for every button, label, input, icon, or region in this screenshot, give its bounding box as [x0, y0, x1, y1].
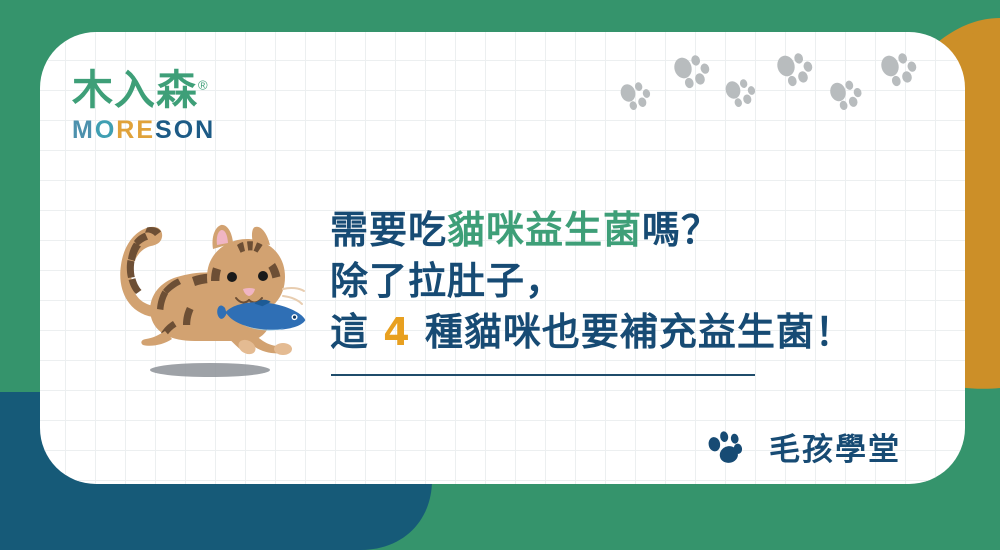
paw-print-icon — [705, 426, 747, 468]
headline-line3-part3: 種貓咪也要補充益生菌！ — [411, 310, 854, 354]
footer-brand: 毛孩學堂 — [705, 424, 901, 469]
headline-block: 需要吃貓咪益生菌嗎？ 除了拉肚子， 這 4 種貓咪也要補充益生菌！ — [330, 205, 930, 358]
paw-print-icon — [828, 77, 865, 113]
headline-line3-part1: 這 — [330, 310, 383, 354]
logo-english-wordmark: MORESON — [72, 118, 237, 143]
paw-print-icon — [619, 79, 654, 113]
registered-trademark-icon: ® — [198, 77, 209, 92]
cat-shadow — [150, 363, 270, 377]
headline-line-1: 需要吃貓咪益生菌嗎？ — [330, 205, 930, 256]
poster-canvas: 木入森® MORESON — [0, 0, 1000, 550]
brand-logo: 木入森® MORESON — [72, 70, 237, 143]
logo-letter-e: E — [136, 116, 155, 144]
cat-paw-far — [274, 343, 292, 355]
footer-brand-label: 毛孩學堂 — [769, 424, 901, 469]
logo-letter-m: M — [72, 116, 95, 144]
cat-eye-right — [258, 271, 268, 281]
logo-letter-o1: O — [95, 116, 116, 144]
headline-underline-rule — [331, 374, 755, 376]
cat-eye-left — [227, 272, 237, 282]
headline-line1-part3: 嗎？ — [642, 208, 720, 252]
paw-print-icon — [724, 76, 759, 110]
logo-letter-s: S — [155, 116, 174, 144]
cat-whiskers-2 — [283, 296, 302, 304]
headline-line-3: 這 4 種貓咪也要補充益生菌！ — [330, 307, 930, 358]
paw-print-icon — [672, 51, 713, 91]
logo-letter-n: N — [195, 116, 215, 144]
paw-print-icon — [879, 49, 920, 89]
headline-line2-text: 除了拉肚子， — [330, 259, 564, 303]
logo-letter-o2: O — [174, 116, 195, 144]
paw-print-icon — [775, 49, 816, 89]
headline-line-2: 除了拉肚子， — [330, 256, 930, 307]
logo-chinese-wordmark: 木入森® — [72, 70, 237, 111]
logo-letter-r: R — [116, 116, 136, 144]
logo-chinese-text: 木入森 — [72, 66, 198, 114]
headline-line1-part1: 需要吃 — [330, 208, 447, 252]
cat-with-fish-illustration — [95, 205, 325, 390]
headline-line1-part2-highlight: 貓咪益生菌 — [447, 208, 642, 252]
headline-line3-number-highlight: 4 — [383, 310, 410, 354]
cat-whiskers — [283, 288, 304, 291]
